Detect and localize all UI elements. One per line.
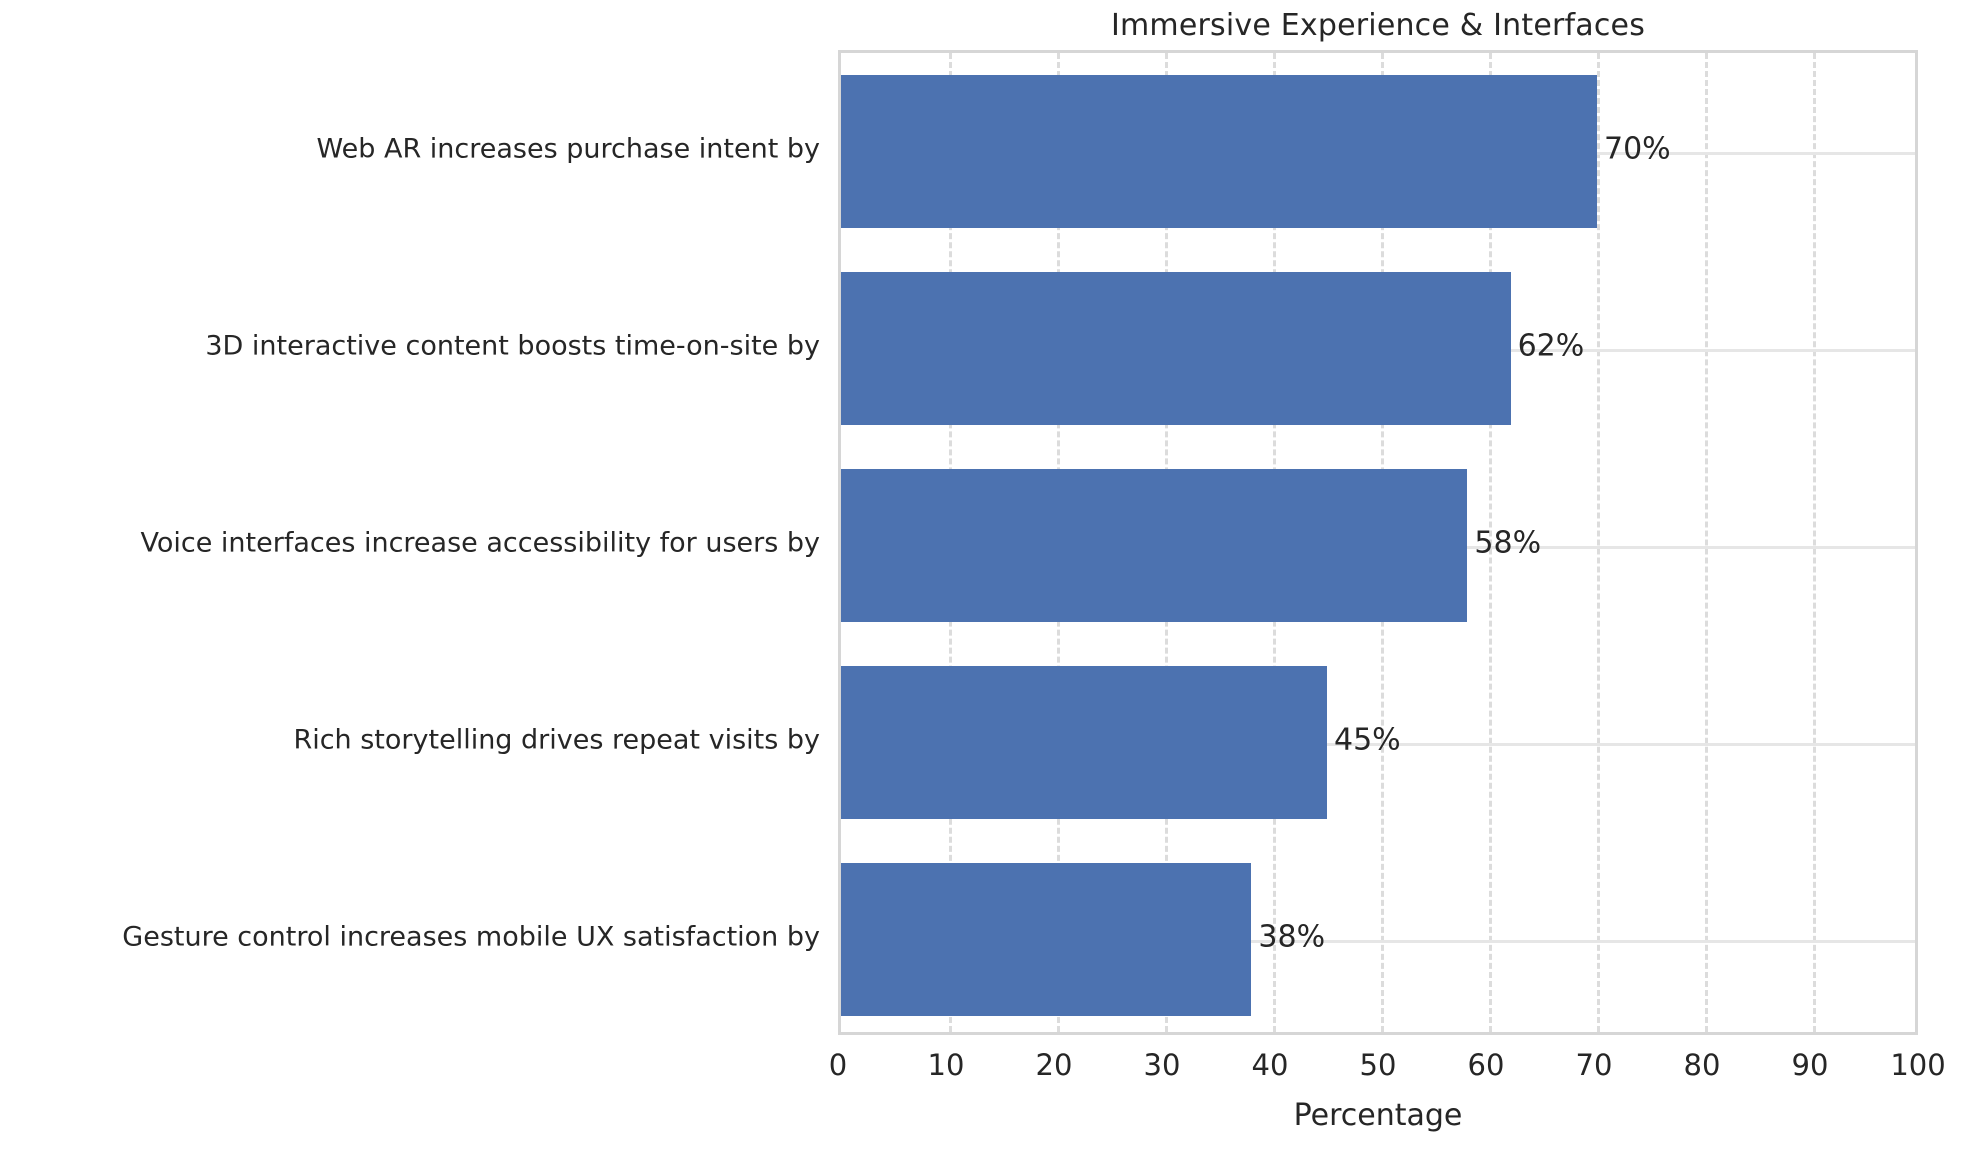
bar-value-label: 58% xyxy=(1474,525,1541,560)
x-axis-tick-label: 90 xyxy=(1792,1048,1829,1082)
x-axis-tick-label: 0 xyxy=(829,1048,847,1082)
gridline-vertical xyxy=(1597,53,1600,1032)
bar xyxy=(841,272,1511,426)
bar xyxy=(841,863,1251,1017)
y-axis-category-label: Rich storytelling drives repeat visits b… xyxy=(293,724,820,755)
x-axis-tick-label: 50 xyxy=(1360,1048,1397,1082)
bar xyxy=(841,75,1597,229)
y-axis-category-label: Web AR increases purchase intent by xyxy=(317,133,820,164)
y-axis-category-label: Gesture control increases mobile UX sati… xyxy=(122,921,820,952)
bar-value-label: 38% xyxy=(1258,919,1325,954)
gridline-vertical xyxy=(1705,53,1708,1032)
x-axis-tick-label: 10 xyxy=(928,1048,965,1082)
bar xyxy=(841,666,1327,820)
bar-value-label: 70% xyxy=(1604,131,1671,166)
x-axis-tick-label: 40 xyxy=(1252,1048,1289,1082)
x-axis-tick-label: 100 xyxy=(1890,1048,1945,1082)
plot-area xyxy=(838,50,1918,1035)
chart-title: Immersive Experience & Interfaces xyxy=(838,8,1918,43)
x-axis-title: Percentage xyxy=(838,1098,1918,1133)
gridline-vertical xyxy=(1813,53,1816,1032)
y-axis-category-label: Voice interfaces increase accessibility … xyxy=(140,527,820,558)
x-axis-tick-label: 80 xyxy=(1684,1048,1721,1082)
x-axis-tick-label: 60 xyxy=(1468,1048,1505,1082)
bar-value-label: 62% xyxy=(1518,328,1585,363)
y-axis-category-label: 3D interactive content boosts time-on-si… xyxy=(205,330,820,361)
x-axis-tick-label: 30 xyxy=(1144,1048,1181,1082)
x-axis-tick-label: 70 xyxy=(1576,1048,1613,1082)
x-axis-tick-label: 20 xyxy=(1036,1048,1073,1082)
bar-value-label: 45% xyxy=(1334,722,1401,757)
chart-figure: Immersive Experience & Interfaces Web AR… xyxy=(0,0,1968,1168)
bar xyxy=(841,469,1467,623)
